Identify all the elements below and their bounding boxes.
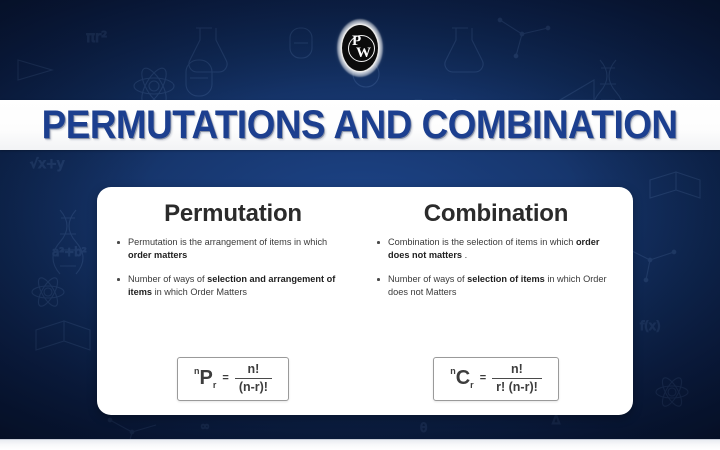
svg-text:θ: θ	[420, 421, 427, 435]
formula-denominator: r! (n-r)!	[492, 378, 542, 394]
formula-box-permutation: n P r = n! (n-r)!	[177, 357, 289, 401]
formula-equals: =	[480, 372, 486, 384]
formula-symbol: P	[200, 368, 213, 388]
formula-fraction: n! r! (n-r)!	[492, 363, 542, 394]
page-title: PERMUTATIONS AND COMBINATION	[42, 105, 678, 145]
list-item: Permutation is the arrangement of items …	[115, 236, 351, 262]
formula-box-combination: n C r = n! r! (n-r)!	[433, 357, 559, 401]
formula-expression: n P r = n! (n-r)!	[194, 363, 272, 394]
svg-text:Δ: Δ	[552, 413, 561, 427]
point-text: Combination is the selection of items in…	[388, 237, 599, 260]
logo-letter-w: W	[356, 46, 371, 61]
formula-denominator: (n-r)!	[235, 378, 272, 394]
point-text: Permutation is the arrangement of items …	[128, 237, 327, 260]
formula-subscript: r	[470, 380, 474, 390]
formula-subscript: r	[213, 380, 217, 390]
list-item: Number of ways of selection and arrangem…	[115, 273, 351, 299]
content-card: Permutation Permutation is the arrangeme…	[97, 187, 633, 415]
formula-expression: n C r = n! r! (n-r)!	[450, 363, 542, 394]
bottom-strip	[0, 439, 720, 450]
formula-box-permutation-wrap: n P r = n! (n-r)!	[115, 357, 351, 405]
pw-logo-icon: P W	[337, 19, 383, 77]
column-heading-permutation: Permutation	[115, 201, 351, 226]
formula-numerator: n!	[507, 363, 527, 378]
point-text: Number of ways of selection and arrangem…	[128, 274, 335, 297]
logo-monogram: P W	[342, 25, 378, 71]
formula-superscript: n	[450, 366, 456, 376]
logo-disc: P W	[342, 25, 378, 71]
column-combination: Combination Combination is the selection…	[365, 187, 633, 415]
list-item: Number of ways of selection of items in …	[375, 273, 617, 299]
formula-fraction: n! (n-r)!	[235, 363, 272, 394]
formula-numerator: n!	[243, 363, 263, 378]
column-permutation: Permutation Permutation is the arrangeme…	[97, 187, 365, 415]
svg-text:√x+y: √x+y	[30, 157, 65, 172]
list-item: Combination is the selection of items in…	[375, 236, 617, 262]
points-list-permutation: Permutation is the arrangement of items …	[115, 236, 351, 310]
title-band: PERMUTATIONS AND COMBINATION	[0, 100, 720, 150]
formula-symbol: C	[456, 368, 470, 388]
formula-superscript: n	[194, 366, 200, 376]
formula-box-combination-wrap: n C r = n! r! (n-r)!	[375, 357, 617, 405]
point-text: Number of ways of selection of items in …	[388, 274, 607, 297]
formula-equals: =	[222, 372, 228, 384]
points-list-combination: Combination is the selection of items in…	[375, 236, 617, 310]
slide-canvas: πr² ∫ E=mc² √x+y a²+b² ∑ f(x) ∞ θ Δ	[0, 0, 720, 450]
svg-text:∞: ∞	[200, 419, 210, 433]
brand-header: P W	[0, 16, 720, 80]
svg-text:a²+b²: a²+b²	[52, 245, 87, 259]
svg-text:f(x): f(x)	[640, 319, 661, 333]
column-heading-combination: Combination	[375, 201, 617, 226]
